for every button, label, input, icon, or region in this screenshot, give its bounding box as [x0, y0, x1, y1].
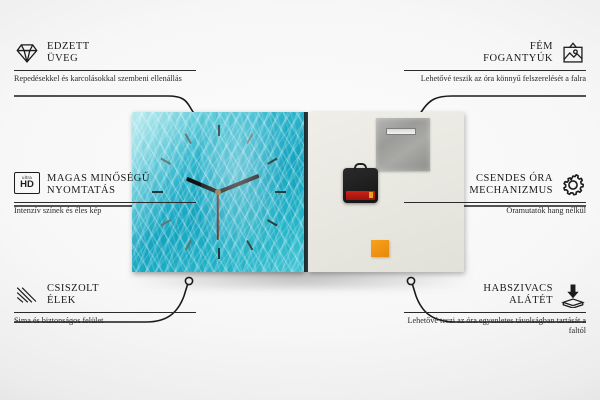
- hanger-slot: [386, 128, 416, 135]
- clock-minute-hand: [217, 174, 259, 194]
- callout-title-line2: ALÁTÉT: [483, 295, 553, 308]
- ultra-hd-icon: ultra HD: [14, 172, 40, 198]
- callout-divider: [404, 202, 586, 203]
- quartz-clock-mechanism: [343, 168, 378, 203]
- clock-second-hand: [217, 192, 219, 240]
- callout-description: Repedésekkel és karcolásokkal szembeni e…: [14, 74, 196, 84]
- callout-divider: [404, 312, 586, 313]
- callout-description: Óramutatók hang nélkül: [404, 206, 586, 216]
- polished-edge-icon: [14, 282, 40, 308]
- callout-title-line1: EDZETT: [47, 41, 90, 54]
- mechanism-hanging-loop: [354, 163, 367, 171]
- foam-spacer-pad: [371, 240, 389, 257]
- callout-title-line2: ÜVEG: [47, 53, 90, 66]
- callout-title-line1: HABSZIVACS: [483, 283, 553, 296]
- callout-title-line2: ÉLEK: [47, 295, 99, 308]
- callout-title-line2: NYOMTATÁS: [47, 185, 150, 198]
- callout-title-line2: MECHANIZMUS: [469, 185, 553, 198]
- callout-divider: [14, 202, 196, 203]
- callout-description: Lehetővé teszi az óra egyenletes távolsá…: [404, 316, 586, 336]
- foam-pad-icon: [560, 282, 586, 308]
- callout-silent-mechanism: CSENDES ÓRA MECHANIZMUS Óramutatók hang …: [404, 172, 586, 216]
- callout-divider: [404, 70, 586, 71]
- callout-title-line2: FOGANTYÚK: [483, 53, 553, 66]
- clock-pivot: [215, 189, 221, 195]
- diamond-icon: [14, 40, 40, 66]
- callout-title-line1: FÉM: [483, 41, 553, 54]
- callout-foam-pad: HABSZIVACS ALÁTÉT Lehetővé teszi az óra …: [404, 282, 586, 336]
- callout-description: Lehetővé teszik az óra könnyű felszerelé…: [404, 74, 586, 84]
- callout-metal-handles: FÉM FOGANTYÚK Lehetővé teszik az óra kön…: [404, 40, 586, 84]
- callout-tempered-glass: EDZETT ÜVEG Repedésekkel és karcolásokka…: [14, 40, 196, 84]
- callout-divider: [14, 312, 196, 313]
- battery: [346, 191, 375, 200]
- callout-divider: [14, 70, 196, 71]
- callout-polished-edges: CSISZOLT ÉLEK Sima és biztonságos felüle…: [14, 282, 196, 326]
- hd-badge-large: HD: [20, 180, 34, 190]
- gear-icon: [560, 172, 586, 198]
- callout-description: Sima és biztonságos felület: [14, 316, 196, 326]
- callout-description: Intenzív színek és éles kép: [14, 206, 196, 216]
- picture-hanger-icon: [560, 40, 586, 66]
- infographic-canvas: EDZETT ÜVEG Repedésekkel és karcolásokka…: [0, 0, 600, 400]
- callout-title-line1: MAGAS MINŐSÉGŰ: [47, 173, 150, 186]
- metal-hanger-plate: [376, 118, 430, 171]
- callout-title-line1: CSISZOLT: [47, 283, 99, 296]
- callout-title-line1: CSENDES ÓRA: [469, 173, 553, 186]
- callout-high-quality-print: ultra HD MAGAS MINŐSÉGŰ NYOMTATÁS Intenz…: [14, 172, 196, 216]
